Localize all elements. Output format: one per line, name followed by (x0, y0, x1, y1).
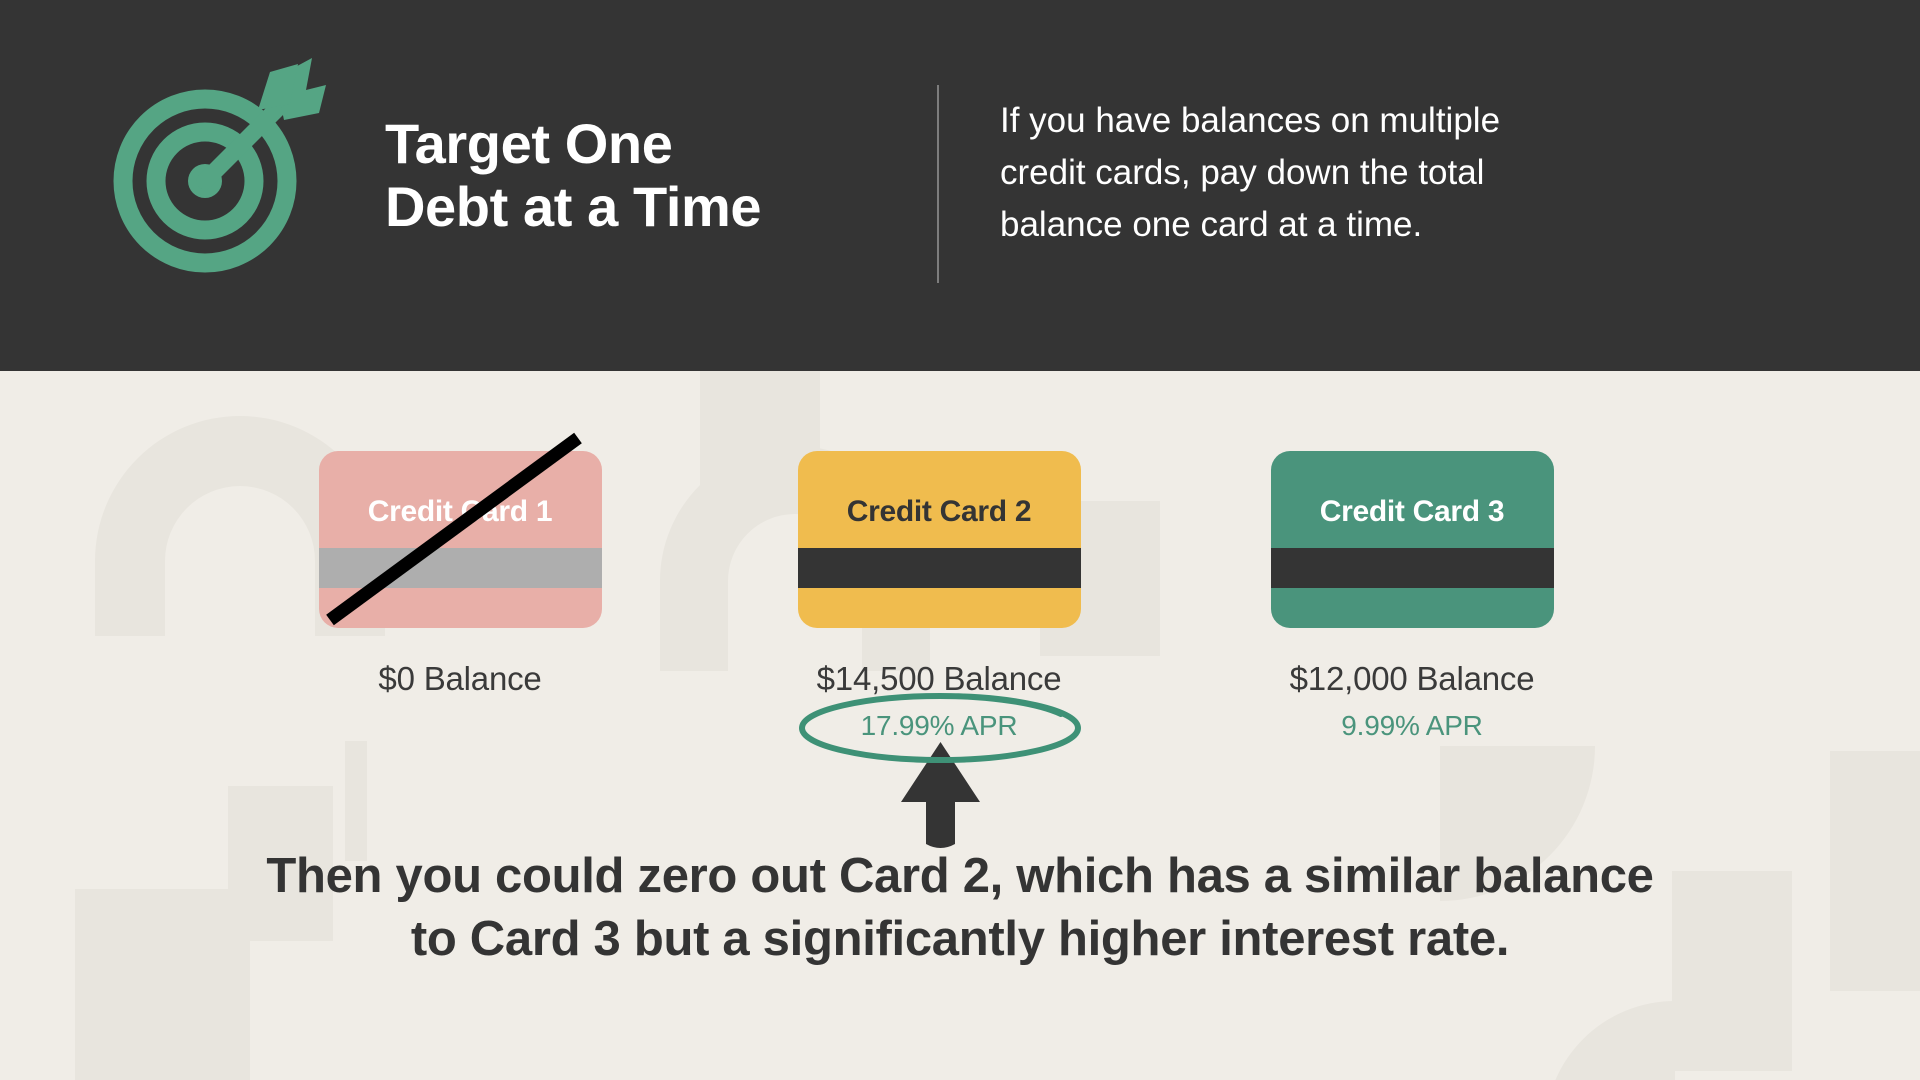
credit-card-1-visual[interactable]: Credit Card 1 (319, 451, 602, 628)
credit-card-3-apr: 9.99% APR (1232, 710, 1592, 742)
page-title-line-2: Debt at a Time (385, 175, 905, 238)
credit-card-2-balance: $14,500 Balance (759, 660, 1119, 698)
caption-line-1: Then you could zero out Card 2, which ha… (0, 845, 1920, 908)
credit-card-1-name: Credit Card 1 (319, 495, 602, 529)
caption-line-2: to Card 3 but a significantly higher int… (0, 908, 1920, 971)
credit-card-3-magstripe (1271, 548, 1554, 588)
credit-card-3-balance: $12,000 Balance (1232, 660, 1592, 698)
header-vertical-divider (937, 85, 939, 283)
credit-card-3[interactable]: Credit Card 3 $12,000 Balance 9.99% APR (1232, 451, 1592, 742)
infographic-page: Target One Debt at a Time If you have ba… (0, 0, 1920, 1080)
credit-card-group-1: Credit Card 1 $0 Balance (280, 451, 640, 698)
up-arrow-icon (898, 740, 983, 850)
credit-card-2-name: Credit Card 2 (798, 495, 1081, 529)
caption-text: Then you could zero out Card 2, which ha… (0, 845, 1920, 970)
header-description: If you have balances on multiple credit … (1000, 95, 1680, 250)
credit-card-3-name: Credit Card 3 (1271, 495, 1554, 529)
credit-card-group-3: Credit Card 3 $12,000 Balance 9.99% APR (1232, 451, 1592, 742)
header-description-line-3: balance one card at a time. (1000, 199, 1680, 251)
credit-card-2[interactable]: Credit Card 2 $14,500 Balance 17.99% APR (759, 451, 1119, 742)
header-description-line-1: If you have balances on multiple (1000, 95, 1680, 147)
target-arrow-icon (112, 58, 330, 273)
credit-card-2-apr: 17.99% APR (759, 710, 1119, 742)
credit-card-2-magstripe (798, 548, 1081, 588)
credit-card-1-magstripe (319, 548, 602, 588)
page-title-line-1: Target One (385, 112, 905, 175)
header-description-line-2: credit cards, pay down the total (1000, 147, 1680, 199)
credit-card-group-2: Credit Card 2 $14,500 Balance 17.99% APR (759, 451, 1119, 742)
header-banner: Target One Debt at a Time If you have ba… (0, 0, 1920, 371)
credit-card-2-visual[interactable]: Credit Card 2 (798, 451, 1081, 628)
credit-card-1-balance: $0 Balance (280, 660, 640, 698)
credit-card-3-visual[interactable]: Credit Card 3 (1271, 451, 1554, 628)
credit-card-1[interactable]: Credit Card 1 $0 Balance (280, 451, 640, 698)
page-title: Target One Debt at a Time (385, 112, 905, 239)
